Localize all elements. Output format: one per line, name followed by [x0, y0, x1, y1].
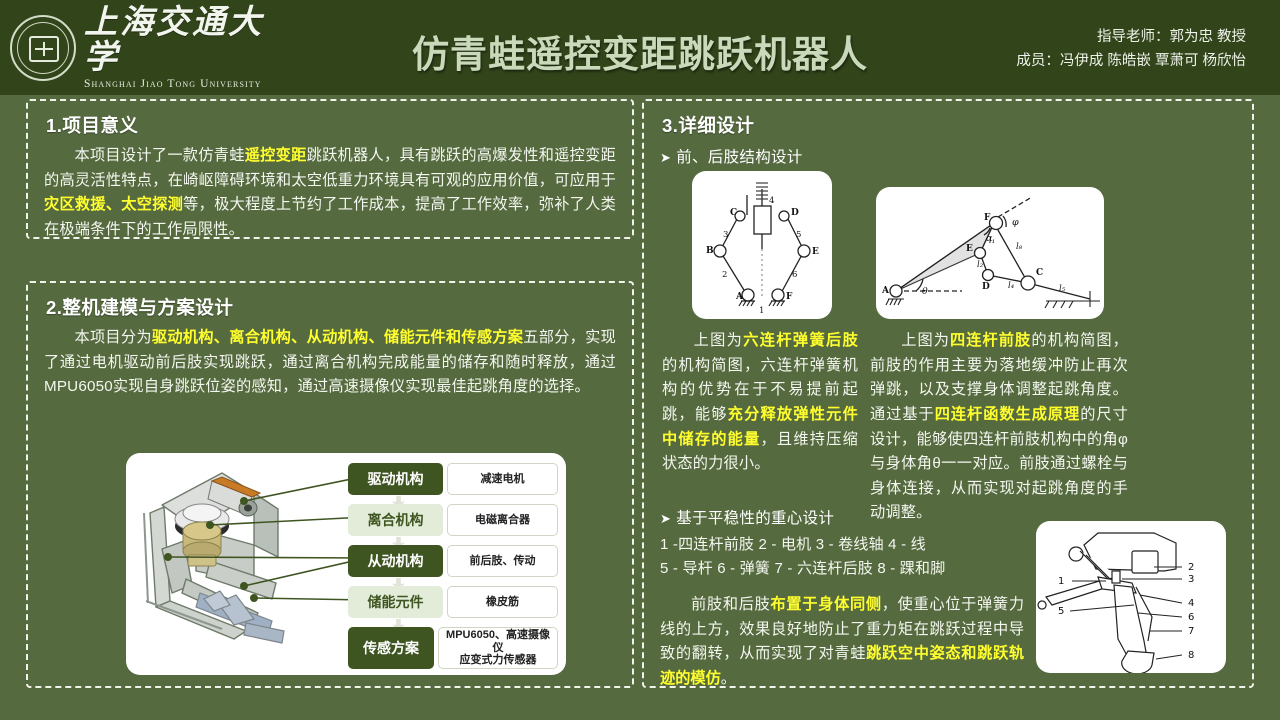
section-1-text: 本项目设计了一款仿青蛙遥控变距跳跃机器人，具有跳跃的高爆发性和遥控变距的高灵活性… — [44, 144, 616, 243]
six-bar-description: 上图为六连杆弹簧后肢的机构简图，六连杆弹簧机构的优势在于不易提前起跳，能够充分释… — [662, 329, 858, 477]
svg-text:B: B — [706, 246, 714, 256]
flow-key: 储能元件 — [348, 586, 443, 618]
svg-text:7: 7 — [1188, 626, 1194, 637]
advisor-line: 指导老师：郭为忠 教授 — [1016, 26, 1246, 50]
svg-text:4: 4 — [1188, 598, 1194, 609]
svg-text:A: A — [735, 292, 744, 302]
svg-text:C: C — [1036, 268, 1043, 278]
svg-text:θ: θ — [922, 286, 928, 297]
flow-key: 传感方案 — [348, 627, 434, 669]
svg-text:1: 1 — [1058, 576, 1064, 587]
flow-row: 储能元件橡皮筋 — [348, 586, 558, 618]
members-line: 成员：冯伊成 陈皓嵌 覃萧可 杨欣怡 — [1016, 50, 1246, 74]
flow-value: 橡皮筋 — [447, 586, 558, 618]
svg-text:3: 3 — [1188, 574, 1194, 585]
svg-text:D: D — [982, 282, 990, 292]
svg-text:2: 2 — [722, 270, 727, 280]
section-3-title: 3.详细设计 — [662, 112, 1252, 138]
poster-root: 上海交通大学 Shanghai Jiao Tong University 仿青蛙… — [0, 0, 1280, 720]
svg-text:2: 2 — [1188, 562, 1194, 573]
flow-row: 传感方案MPU6050、高速摄像仪应变式力传感器 — [348, 627, 558, 669]
robot-cad-render — [126, 453, 366, 675]
flow-value: MPU6050、高速摄像仪应变式力传感器 — [438, 627, 558, 669]
section-3-panel: 3.详细设计 ➤前、后肢结构设计 — [642, 99, 1254, 688]
section-3-bullet-2: ➤基于平稳性的重心设计 — [660, 506, 834, 528]
svg-text:l₅: l₅ — [1059, 284, 1066, 294]
svg-text:5: 5 — [796, 230, 801, 240]
sjtu-seal-icon — [10, 15, 76, 81]
section-2-panel: 2.整机建模与方案设计 本项目分为驱动机构、离合机构、从动机构、储能元件和传感方… — [26, 281, 634, 688]
svg-text:E: E — [812, 247, 819, 257]
svg-text:l₂: l₂ — [977, 260, 984, 270]
four-bar-linkage-figure: AF ED C θφα l₁l₂ l₄l₅ l₈ — [876, 187, 1104, 319]
svg-text:D: D — [791, 208, 799, 218]
robot-line-drawing-figure: 15 23 46 78 — [1036, 521, 1226, 673]
svg-text:4: 4 — [769, 196, 774, 206]
svg-text:8: 8 — [1188, 650, 1194, 661]
svg-text:F: F — [786, 292, 793, 302]
svg-text:3: 3 — [723, 230, 728, 240]
legend-line-1: 1 -四连杆前肢 2 - 电机 3 - 卷线轴 4 - 线 — [660, 533, 1020, 557]
svg-text:E: E — [966, 244, 973, 254]
svg-text:C: C — [730, 208, 737, 218]
svg-text:l₄: l₄ — [1008, 281, 1015, 291]
bullet-1-label: 前、后肢结构设计 — [676, 149, 802, 166]
svg-text:1: 1 — [759, 306, 764, 316]
four-bar-description: 上图为四连杆前肢的机构简图，前肢的作用主要为落地缓冲防止再次弹跳，以及支撑身体调… — [870, 329, 1128, 526]
bullet-arrow-icon: ➤ — [660, 150, 671, 165]
section-2-text: 本项目分为驱动机构、离合机构、从动机构、储能元件和传感方案五部分，实现了通过电机… — [44, 326, 616, 400]
university-logo: 上海交通大学 Shanghai Jiao Tong University — [10, 12, 295, 84]
bullet-2-label: 基于平稳性的重心设计 — [676, 510, 834, 527]
center-of-gravity-description: 前肢和后肢布置于身体同侧，使重心位于弹簧力线的上方，效果良好地防止了重力矩在跳跃… — [660, 593, 1024, 692]
page-title: 仿青蛙遥控变距跳跃机器人 — [330, 24, 950, 78]
section-2-title: 2.整机建模与方案设计 — [46, 294, 632, 320]
legend-line-2: 5 - 导杆 6 - 弹簧 7 - 六连杆后肢 8 - 踝和脚 — [660, 557, 1020, 581]
poster-header: 上海交通大学 Shanghai Jiao Tong University 仿青蛙… — [0, 0, 1280, 95]
flow-value: 减速电机 — [447, 463, 558, 495]
svg-text:6: 6 — [1188, 612, 1194, 623]
svg-text:F: F — [984, 213, 991, 223]
svg-text:6: 6 — [792, 270, 797, 280]
flow-key: 驱动机构 — [348, 463, 443, 495]
flow-key: 从动机构 — [348, 545, 443, 577]
svg-text:φ: φ — [1012, 217, 1019, 228]
svg-text:A: A — [881, 286, 890, 296]
svg-text:5: 5 — [1058, 606, 1064, 617]
flow-value: 前后肢、传动 — [447, 545, 558, 577]
flow-value: 电磁离合器 — [447, 504, 558, 536]
robot-cad-flowchart-figure: 驱动机构减速电机离合机构电磁离合器从动机构前后肢、传动储能元件橡皮筋传感方案MP… — [126, 453, 566, 675]
section-1-panel: 1.项目意义 本项目设计了一款仿青蛙遥控变距跳跃机器人，具有跳跃的高爆发性和遥控… — [26, 99, 634, 239]
system-flowchart: 驱动机构减速电机离合机构电磁离合器从动机构前后肢、传动储能元件橡皮筋传感方案MP… — [348, 463, 558, 675]
credits-block: 指导老师：郭为忠 教授 成员：冯伊成 陈皓嵌 覃萧可 杨欣怡 — [1016, 26, 1246, 74]
svg-text:l₈: l₈ — [1016, 242, 1023, 252]
university-name-en: Shanghai Jiao Tong University — [84, 78, 295, 90]
flow-row: 驱动机构减速电机 — [348, 463, 558, 495]
flow-row: 从动机构前后肢、传动 — [348, 545, 558, 577]
section-3-bullet-1: ➤前、后肢结构设计 — [660, 145, 1252, 167]
svg-text:l₁: l₁ — [989, 236, 995, 246]
section-1-title: 1.项目意义 — [46, 112, 632, 138]
bullet-arrow-icon-2: ➤ — [660, 511, 671, 526]
flow-key: 离合机构 — [348, 504, 443, 536]
part-legend: 1 -四连杆前肢 2 - 电机 3 - 卷线轴 4 - 线 5 - 导杆 6 -… — [660, 533, 1020, 581]
university-name-block: 上海交通大学 Shanghai Jiao Tong University — [84, 6, 295, 90]
six-bar-linkage-figure: CD BE AF 35 26 41 — [692, 171, 832, 319]
flow-row: 离合机构电磁离合器 — [348, 504, 558, 536]
university-name-cn: 上海交通大学 — [84, 6, 295, 75]
